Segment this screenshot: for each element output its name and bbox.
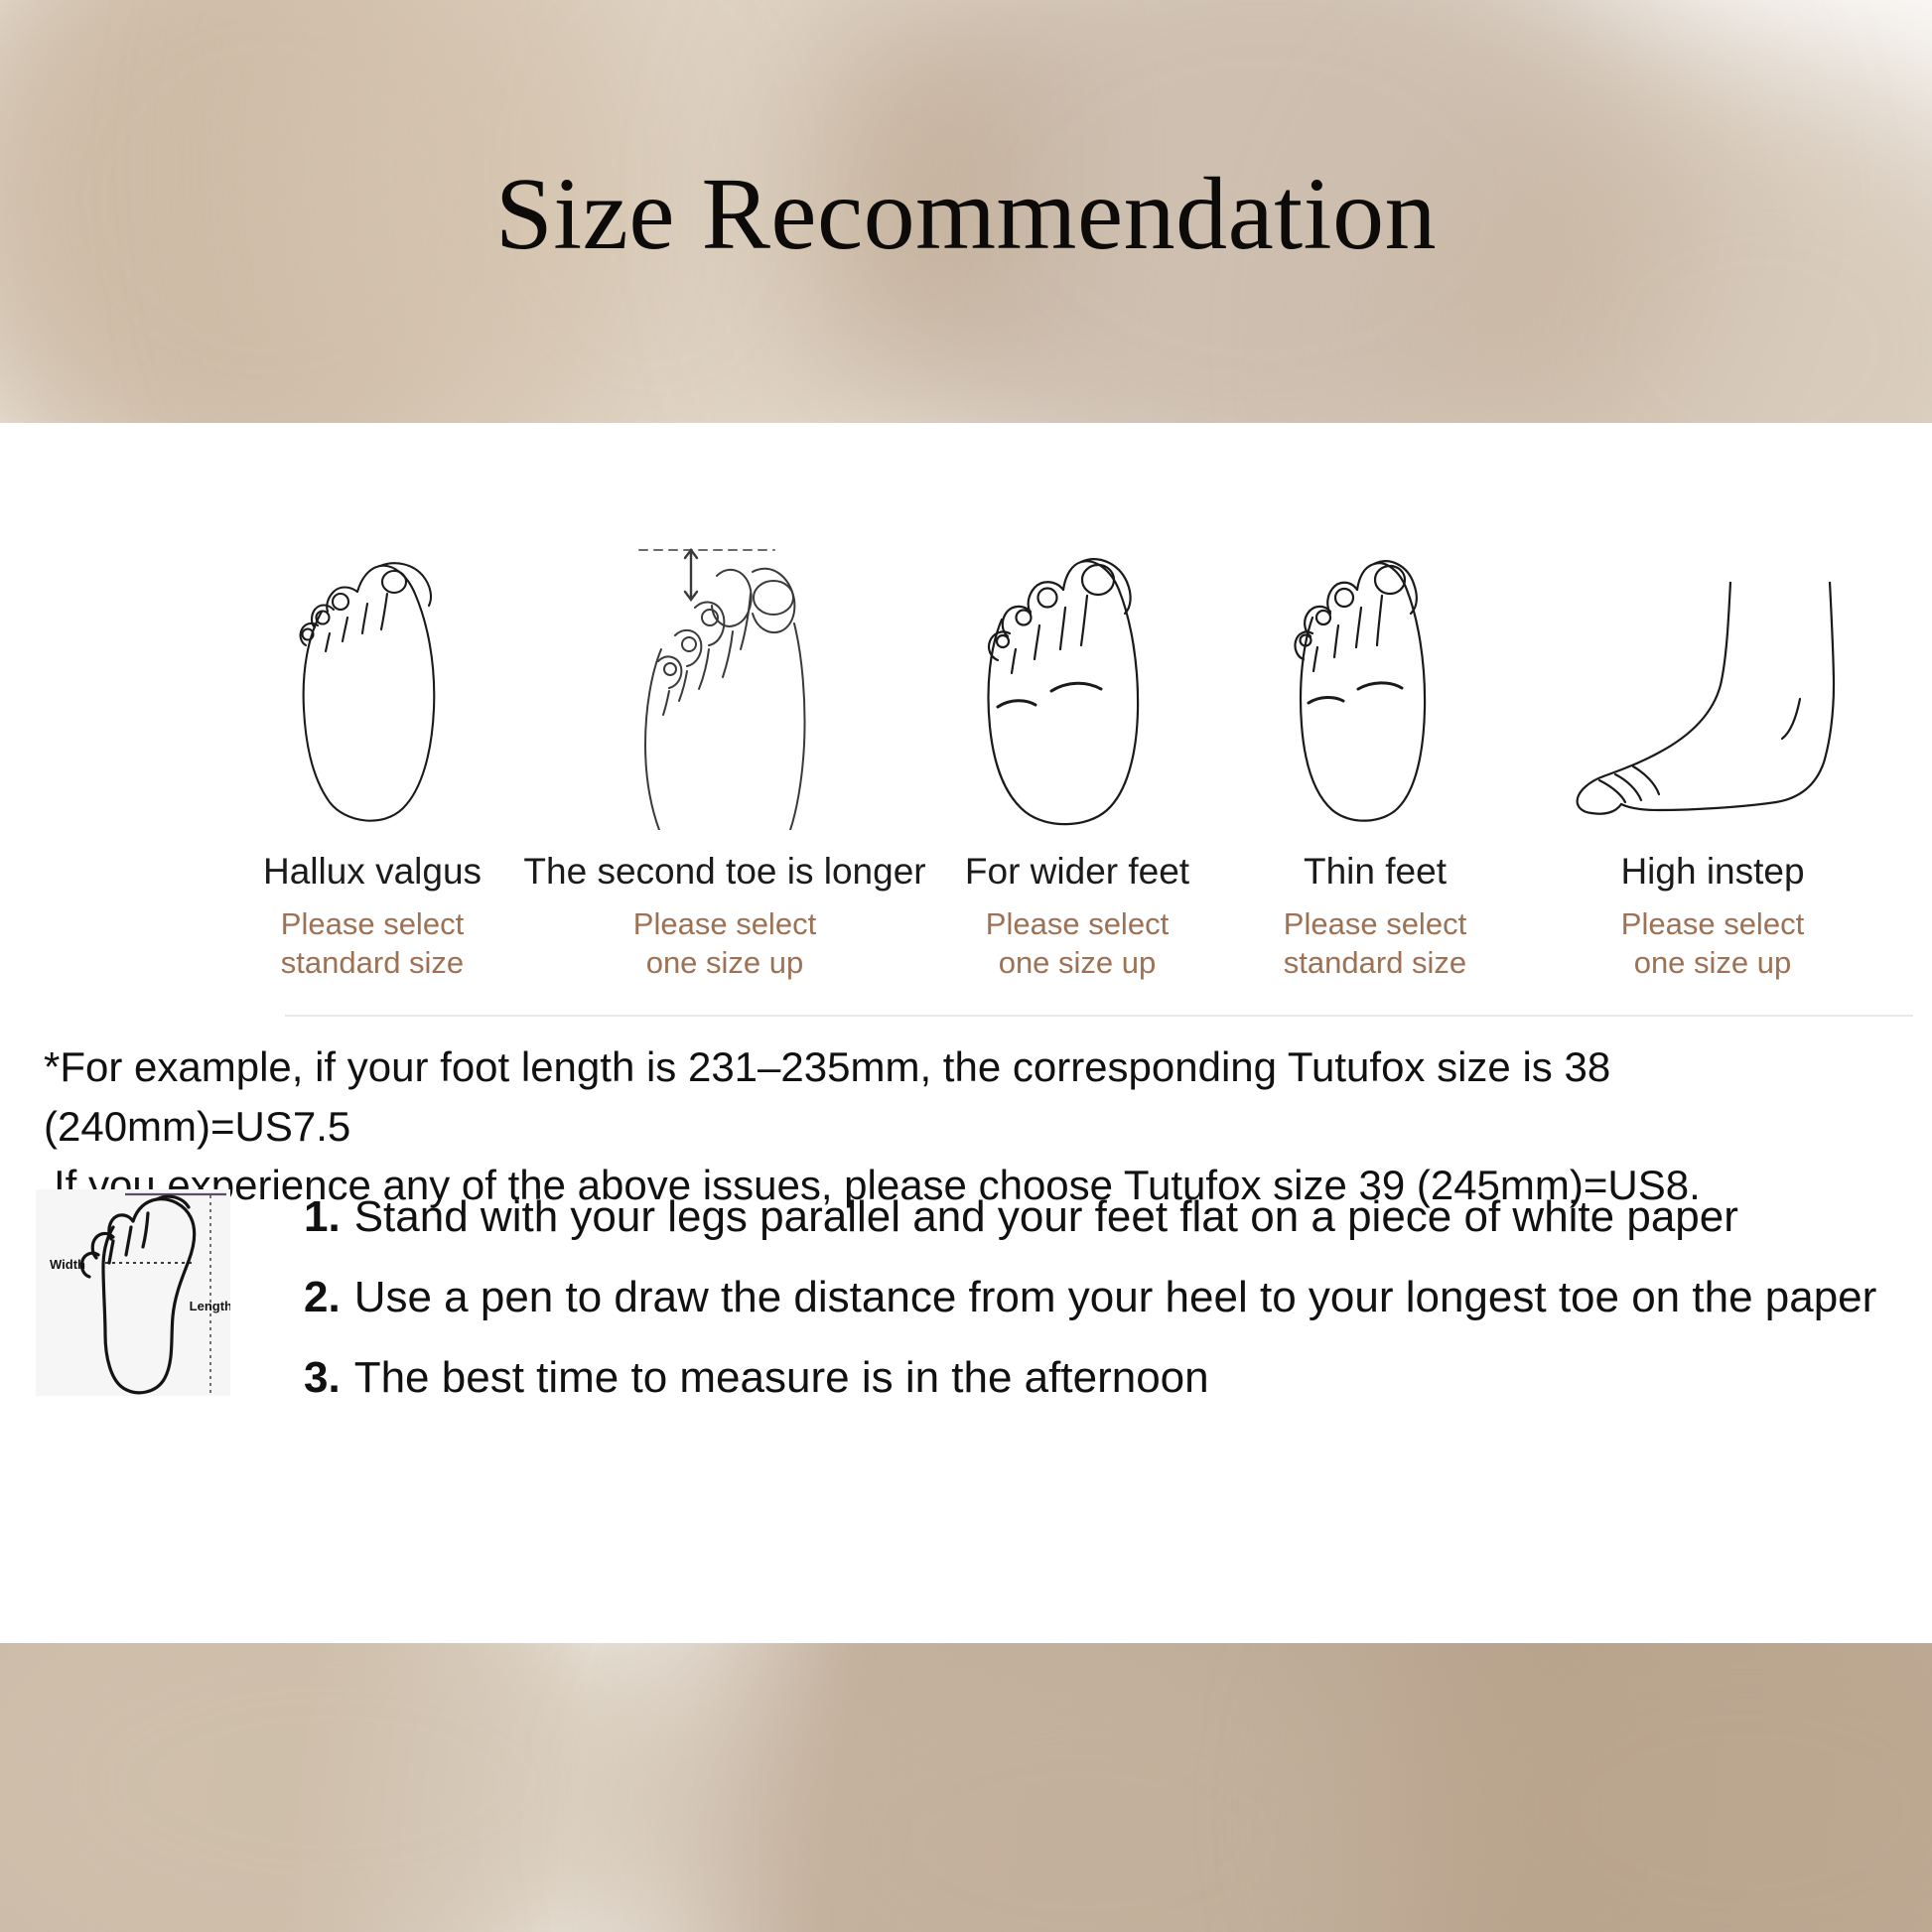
section-divider: [285, 1015, 1913, 1017]
measurement-steps-list: 1. Stand with your legs parallel and you…: [304, 1191, 1912, 1432]
foot-type-card-second-toe-longer: The second toe is longer Please select o…: [546, 532, 903, 983]
step-text: The best time to measure is in the after…: [354, 1352, 1912, 1405]
card-advice-line-1: Please select: [281, 906, 464, 941]
card-advice-line-1: Please select: [1284, 906, 1466, 941]
card-advice: Please select one size up: [986, 904, 1169, 983]
step-item: 2. Use a pen to draw the distance from y…: [304, 1272, 1912, 1324]
card-advice-line-2: one size up: [1621, 943, 1804, 983]
card-advice: Please select one size up: [633, 904, 816, 983]
step-text: Use a pen to draw the distance from your…: [354, 1272, 1912, 1324]
foot-type-card-thin-feet: Thin feet Please select standard size: [1251, 532, 1499, 983]
step-number: 2.: [304, 1272, 341, 1324]
length-label: Length: [190, 1299, 230, 1313]
step-item: 3. The best time to measure is in the af…: [304, 1352, 1912, 1405]
step-item: 1. Stand with your legs parallel and you…: [304, 1191, 1912, 1244]
foot-type-card-high-instep: High instep Please select one size up: [1549, 532, 1876, 983]
card-advice: Please select standard size: [1284, 904, 1466, 983]
bottom-banner: [0, 1643, 1932, 1932]
card-advice-line-1: Please select: [633, 906, 816, 941]
card-advice-line-2: standard size: [281, 943, 464, 983]
card-advice-line-1: Please select: [1621, 906, 1804, 941]
card-advice-line-2: one size up: [986, 943, 1169, 983]
step-number: 1.: [304, 1191, 341, 1244]
card-advice-line-2: standard size: [1284, 943, 1466, 983]
foot-type-card-wider-feet: For wider feet Please select one size up: [953, 532, 1201, 983]
foot-type-card-hallux-valgus: Hallux valgus Please select standard siz…: [248, 532, 496, 983]
card-title: For wider feet: [965, 852, 1189, 893]
card-title: Hallux valgus: [263, 852, 482, 893]
foot-sole-bunion-icon: [278, 532, 467, 830]
example-note-line-1: *For example, if your foot length is 231…: [44, 1043, 1610, 1150]
foot-sole-narrow-icon: [1291, 532, 1459, 830]
example-note: *For example, if your foot length is 231…: [44, 1037, 1910, 1215]
banner-blob: [1370, 1643, 1932, 1932]
foot-type-card-row: Hallux valgus Please select standard siz…: [248, 467, 1876, 983]
step-text: Stand with your legs parallel and your f…: [354, 1191, 1912, 1244]
card-advice: Please select standard size: [281, 904, 464, 983]
foot-measurement-diagram-icon: Width Length: [36, 1189, 230, 1396]
card-advice: Please select one size up: [1621, 904, 1804, 983]
card-advice-line-1: Please select: [986, 906, 1169, 941]
step-number: 3.: [304, 1352, 341, 1405]
foot-side-profile-icon: [1564, 532, 1862, 830]
banner-blob: [695, 1643, 1469, 1932]
infographic-page: Size Recommendation: [0, 0, 1932, 1932]
foot-toes-measure-icon: [625, 532, 824, 830]
banner-blob: [0, 1643, 735, 1932]
card-title: High instep: [1620, 852, 1804, 893]
width-label: Width: [50, 1257, 85, 1272]
foot-sole-wide-icon: [978, 532, 1176, 830]
page-title: Size Recommendation: [0, 159, 1932, 270]
card-title: The second toe is longer: [523, 852, 925, 893]
card-title: Thin feet: [1304, 852, 1447, 893]
card-advice-line-2: one size up: [633, 943, 816, 983]
